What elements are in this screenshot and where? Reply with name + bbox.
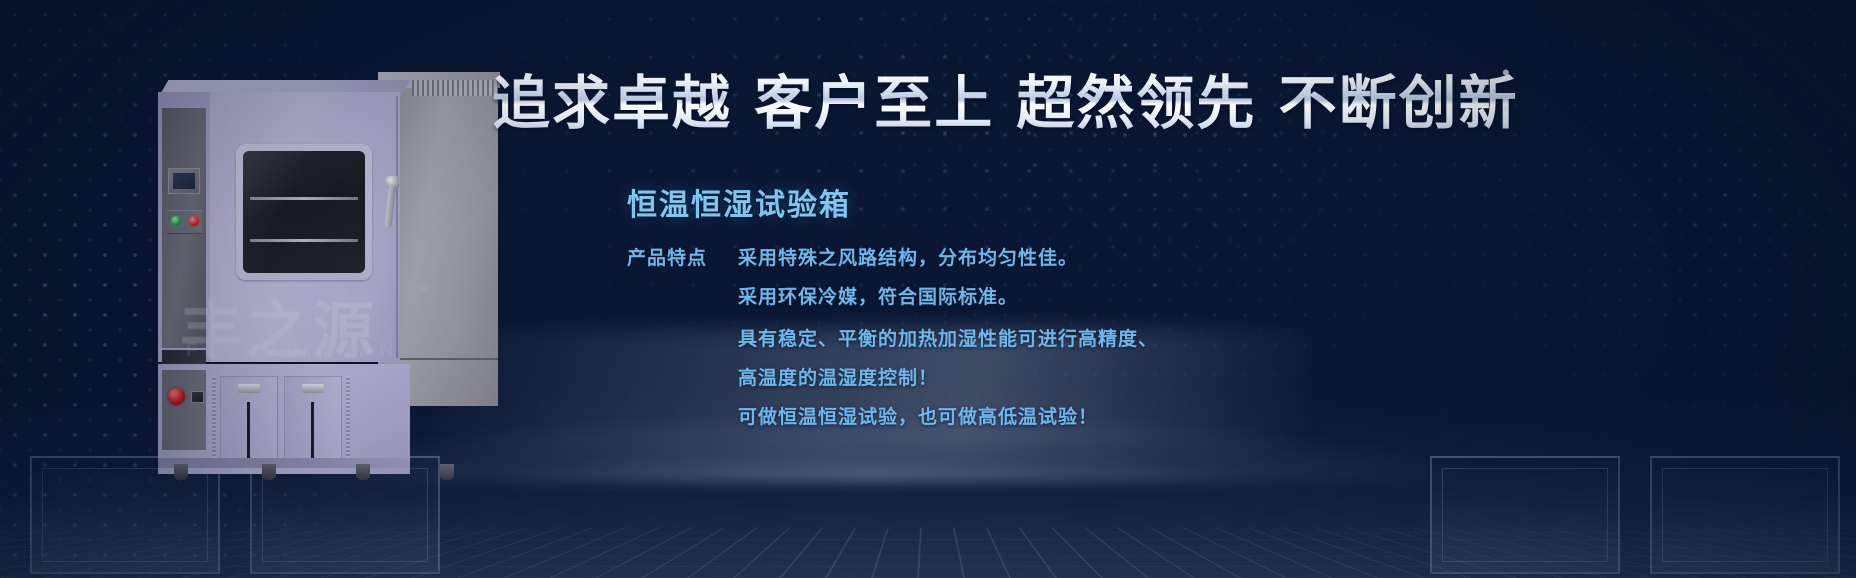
control-panel-lower-strip bbox=[162, 350, 206, 364]
product-name-subtitle: 恒温恒湿试验箱 bbox=[627, 180, 851, 224]
viewing-window-frame bbox=[236, 144, 372, 280]
glass-reflection bbox=[243, 151, 324, 273]
controller-display-screen bbox=[168, 168, 200, 194]
chamber-leg bbox=[174, 464, 188, 480]
registered-mark-icon: ® bbox=[418, 280, 429, 297]
feature-line: 具有稳定、平衡的加热加湿性能可进行高精度、 bbox=[738, 324, 1158, 351]
lower-panel-meter bbox=[191, 391, 204, 403]
indicator-light-green bbox=[171, 216, 181, 226]
feature-line: 高温度的温湿度控制！ bbox=[738, 363, 938, 390]
feature-line: 采用环保冷媒，符合国际标准。 bbox=[738, 282, 1018, 309]
feature-line: 采用特殊之风路结构，分布均匀性佳。 bbox=[738, 243, 1078, 270]
viewing-window-glass bbox=[243, 151, 365, 273]
headline-decoration-dots: • • bbox=[1502, 62, 1510, 134]
chamber-leg bbox=[440, 464, 454, 480]
headline-dot-top: • bbox=[1502, 62, 1510, 84]
cabinet-door-slot bbox=[247, 402, 250, 462]
cabinet-door-slot bbox=[311, 402, 314, 462]
product-image-test-chamber: 丰之源 ® FENGZHIYUAN bbox=[150, 58, 500, 478]
cabinet-door-handle bbox=[238, 384, 260, 393]
chamber-base-rail bbox=[158, 458, 410, 468]
feature-line: 可做恒温恒湿试验，也可做高低温试验！ bbox=[738, 402, 1098, 429]
circuit-chip-decoration bbox=[1650, 456, 1840, 574]
cabinet-door-handle bbox=[302, 384, 324, 393]
emergency-stop-button bbox=[168, 388, 185, 405]
feature-section-label: 产品特点 bbox=[627, 243, 707, 270]
cabinet-vent bbox=[212, 376, 216, 468]
circuit-chip-decoration bbox=[1430, 456, 1620, 574]
promotional-banner: 丰之源 ® FENGZHIYUAN 追求卓越 客户至上 超然领先 不断创新 • … bbox=[0, 0, 1856, 578]
cabinet-vent bbox=[346, 376, 350, 468]
headline-dot-bottom: • bbox=[1502, 98, 1510, 120]
chamber-leg bbox=[356, 464, 370, 480]
chamber-leg bbox=[262, 464, 276, 480]
chamber-door-seam bbox=[396, 96, 398, 358]
indicator-light-red bbox=[189, 216, 199, 226]
chamber-rear-vent bbox=[412, 80, 498, 96]
banner-headline: 追求卓越 客户至上 超然领先 不断创新 bbox=[492, 56, 1519, 140]
lower-control-panel bbox=[162, 370, 206, 450]
